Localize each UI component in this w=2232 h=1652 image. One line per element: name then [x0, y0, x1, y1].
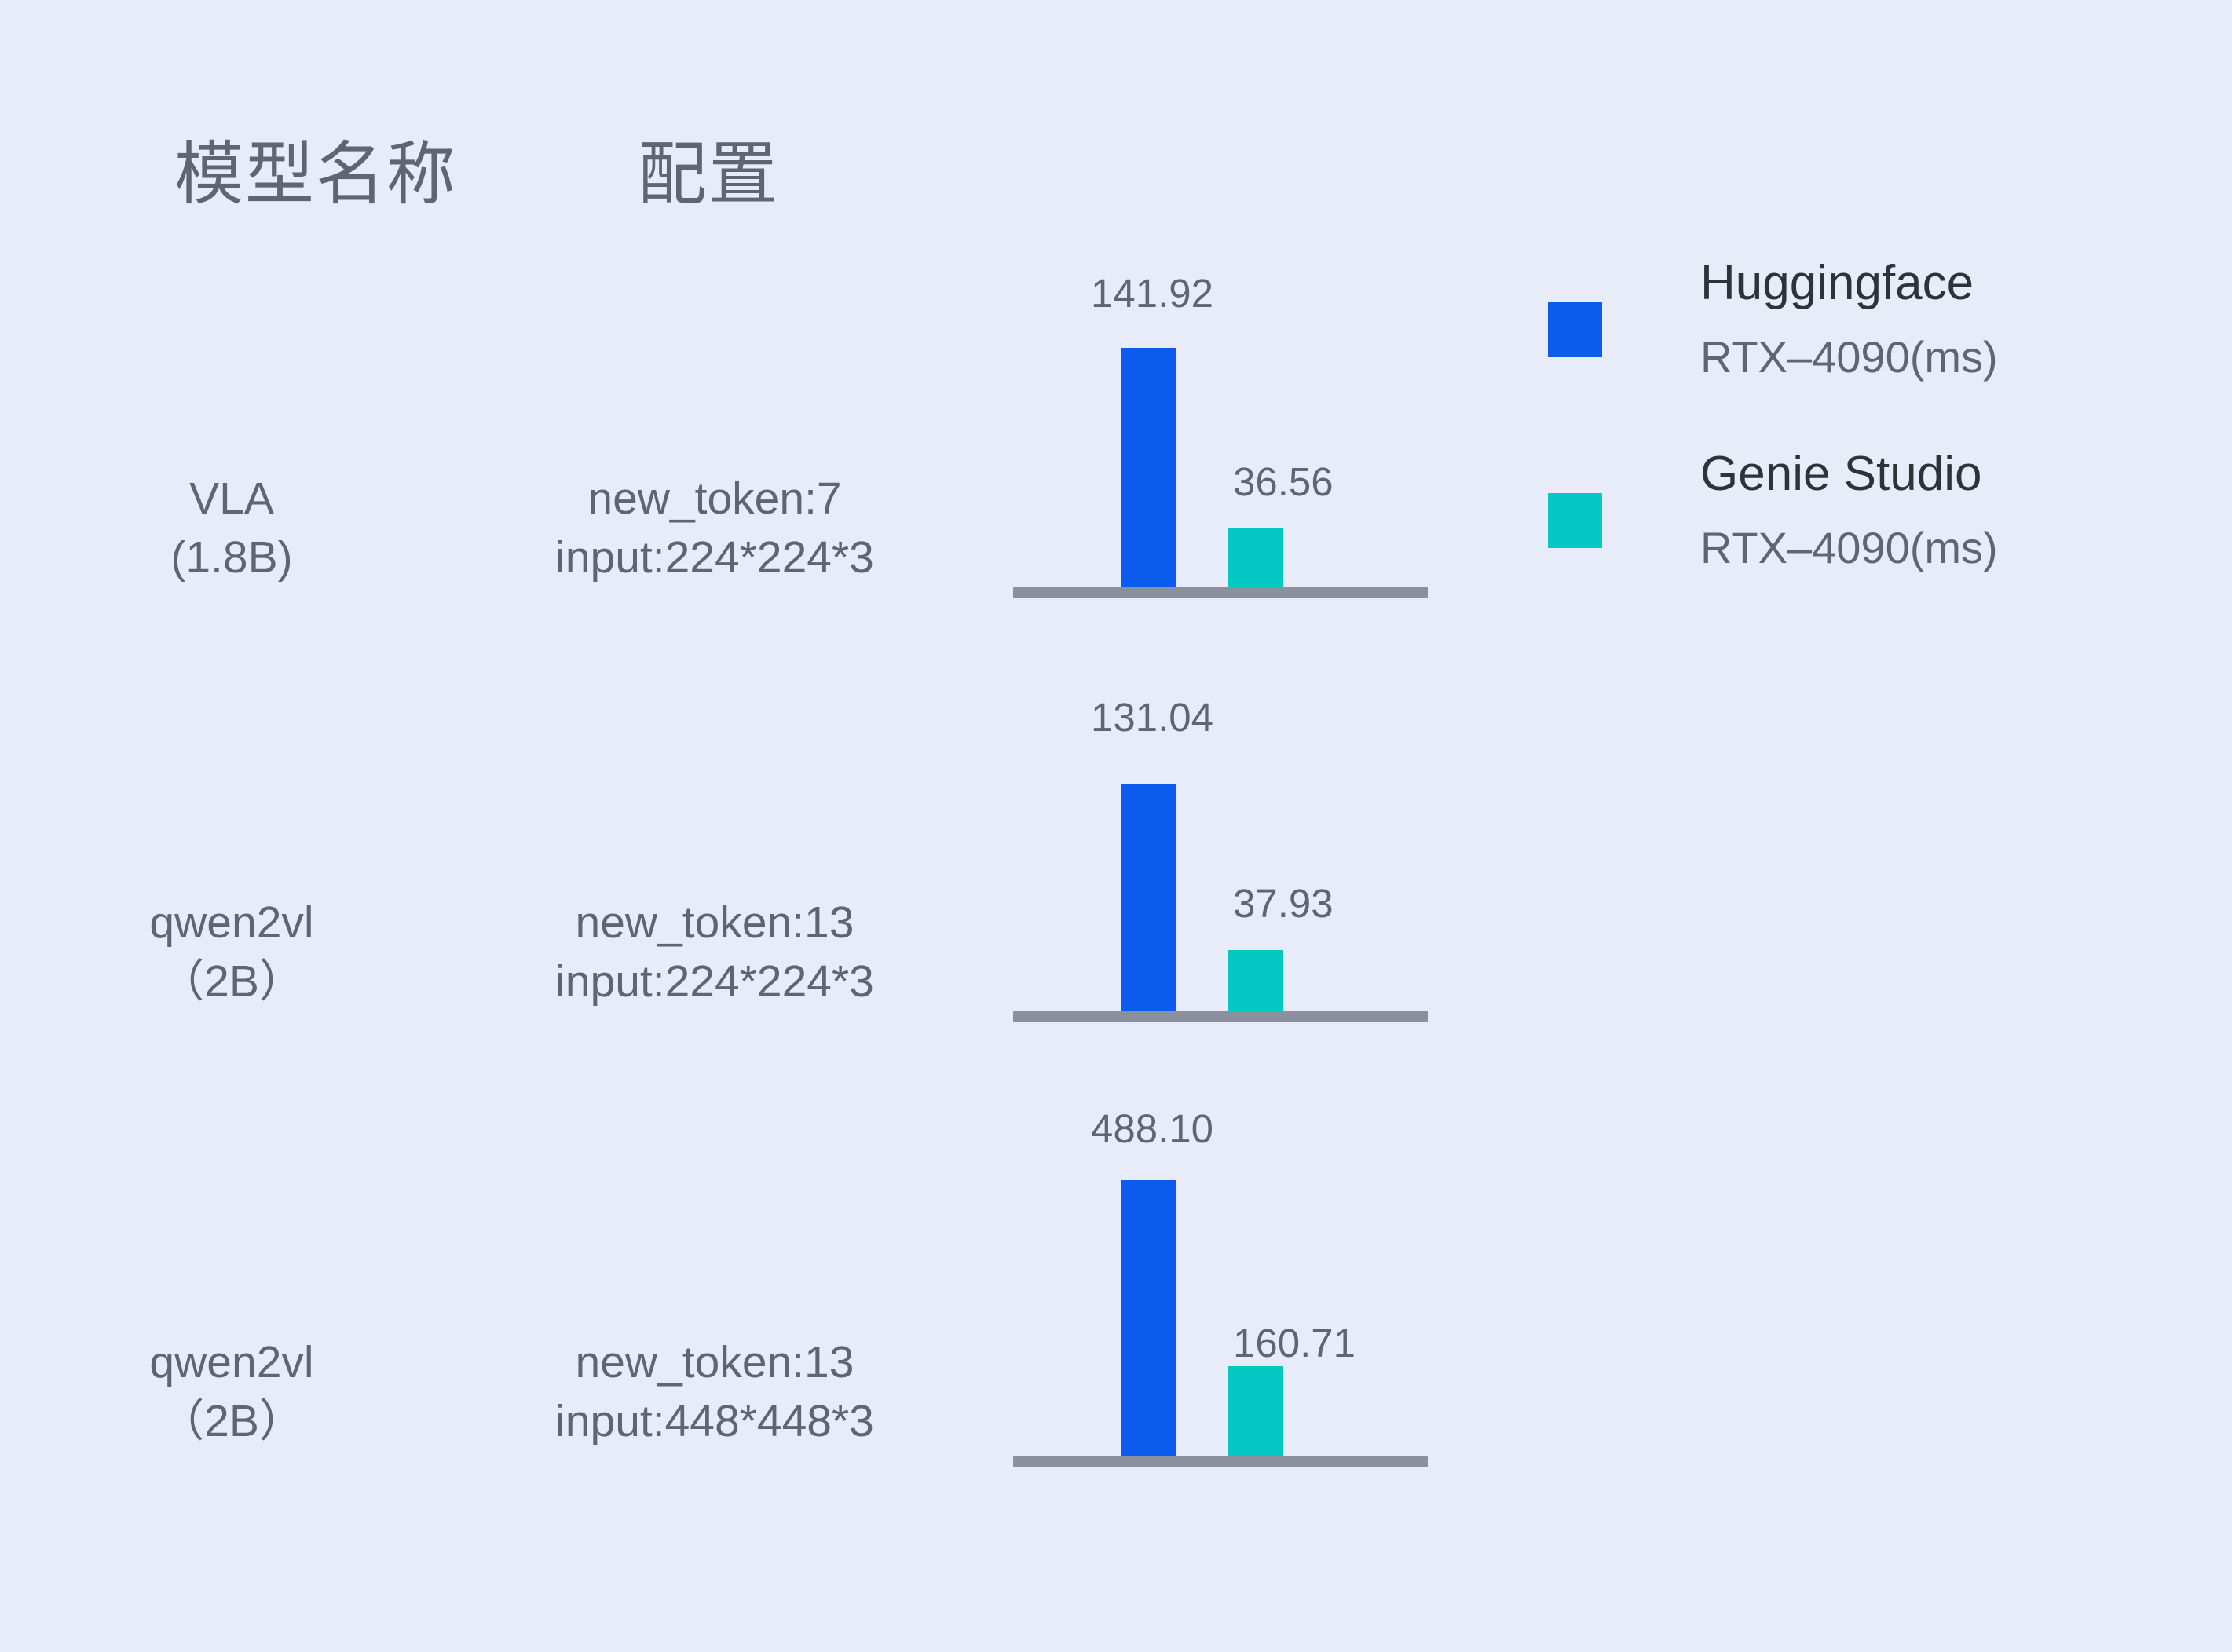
row-baseline	[1013, 587, 1428, 598]
row-model-line2: （2B）	[118, 952, 346, 1011]
bar-huggingface[interactable]	[1121, 1180, 1176, 1460]
bar-value-huggingface: 488.10	[1091, 1109, 1213, 1149]
row-config-line2: input:224*224*3	[471, 952, 958, 1011]
row-config-line2: input:448*448*3	[471, 1392, 958, 1451]
blue-square-icon	[1548, 302, 1602, 357]
row-model-label: qwen2vl （2B）	[118, 894, 346, 1011]
row-model-line1: qwen2vl	[118, 1333, 346, 1392]
row-baseline	[1013, 1011, 1428, 1022]
row-model-label: VLA (1.8B)	[118, 470, 346, 587]
legend-subtitle: RTX–4090(ms)	[1700, 526, 1998, 570]
row-bar-group: 141.92 36.56	[1013, 259, 1437, 597]
bar-huggingface[interactable]	[1121, 348, 1176, 587]
row-config-line2: input:224*224*3	[471, 528, 958, 587]
row-model-line2: (1.8B)	[118, 528, 346, 587]
row-model-line2: （2B）	[118, 1392, 346, 1451]
row-config-line1: new_token:7	[471, 470, 958, 528]
legend-title: Huggingface	[1700, 259, 1974, 308]
bar-genie[interactable]	[1228, 950, 1283, 1011]
row-bar-group: 488.10 160.71	[1013, 1099, 1437, 1492]
row-config-label: new_token:7 input:224*224*3	[471, 470, 958, 587]
row-config-label: new_token:13 input:224*224*3	[471, 894, 958, 1011]
bar-value-huggingface: 141.92	[1091, 273, 1213, 313]
column-header-config: 配置	[638, 140, 779, 209]
row-bar-group: 131.04 37.93	[1013, 683, 1437, 1021]
bar-value-genie: 36.56	[1233, 462, 1334, 502]
legend-item-genie-studio[interactable]: Genie Studio RTX–4090(ms)	[1539, 428, 2230, 616]
row-config-label: new_token:13 input:448*448*3	[471, 1333, 958, 1451]
chart-canvas: 模型名称 配置 VLA (1.8B) new_token:7 input:224…	[0, 0, 2232, 1652]
row-model-line1: VLA	[118, 470, 346, 528]
row-model-label: qwen2vl （2B）	[118, 1333, 346, 1451]
bar-genie[interactable]	[1228, 528, 1283, 587]
bar-genie[interactable]	[1228, 1366, 1283, 1460]
row-baseline	[1013, 1456, 1428, 1467]
row-model-line1: qwen2vl	[118, 894, 346, 952]
bar-value-genie: 37.93	[1233, 883, 1334, 923]
bar-value-huggingface: 131.04	[1091, 697, 1213, 737]
column-header-model-name: 模型名称	[174, 140, 457, 209]
legend-item-huggingface[interactable]: Huggingface RTX–4090(ms)	[1539, 236, 2230, 424]
legend-title: Genie Studio	[1700, 450, 1981, 499]
bar-value-genie: 160.71	[1233, 1323, 1356, 1363]
legend-subtitle: RTX–4090(ms)	[1700, 335, 1998, 379]
bar-huggingface[interactable]	[1121, 784, 1176, 1011]
teal-square-icon	[1548, 493, 1602, 548]
row-config-line1: new_token:13	[471, 1333, 958, 1392]
row-config-line1: new_token:13	[471, 894, 958, 952]
